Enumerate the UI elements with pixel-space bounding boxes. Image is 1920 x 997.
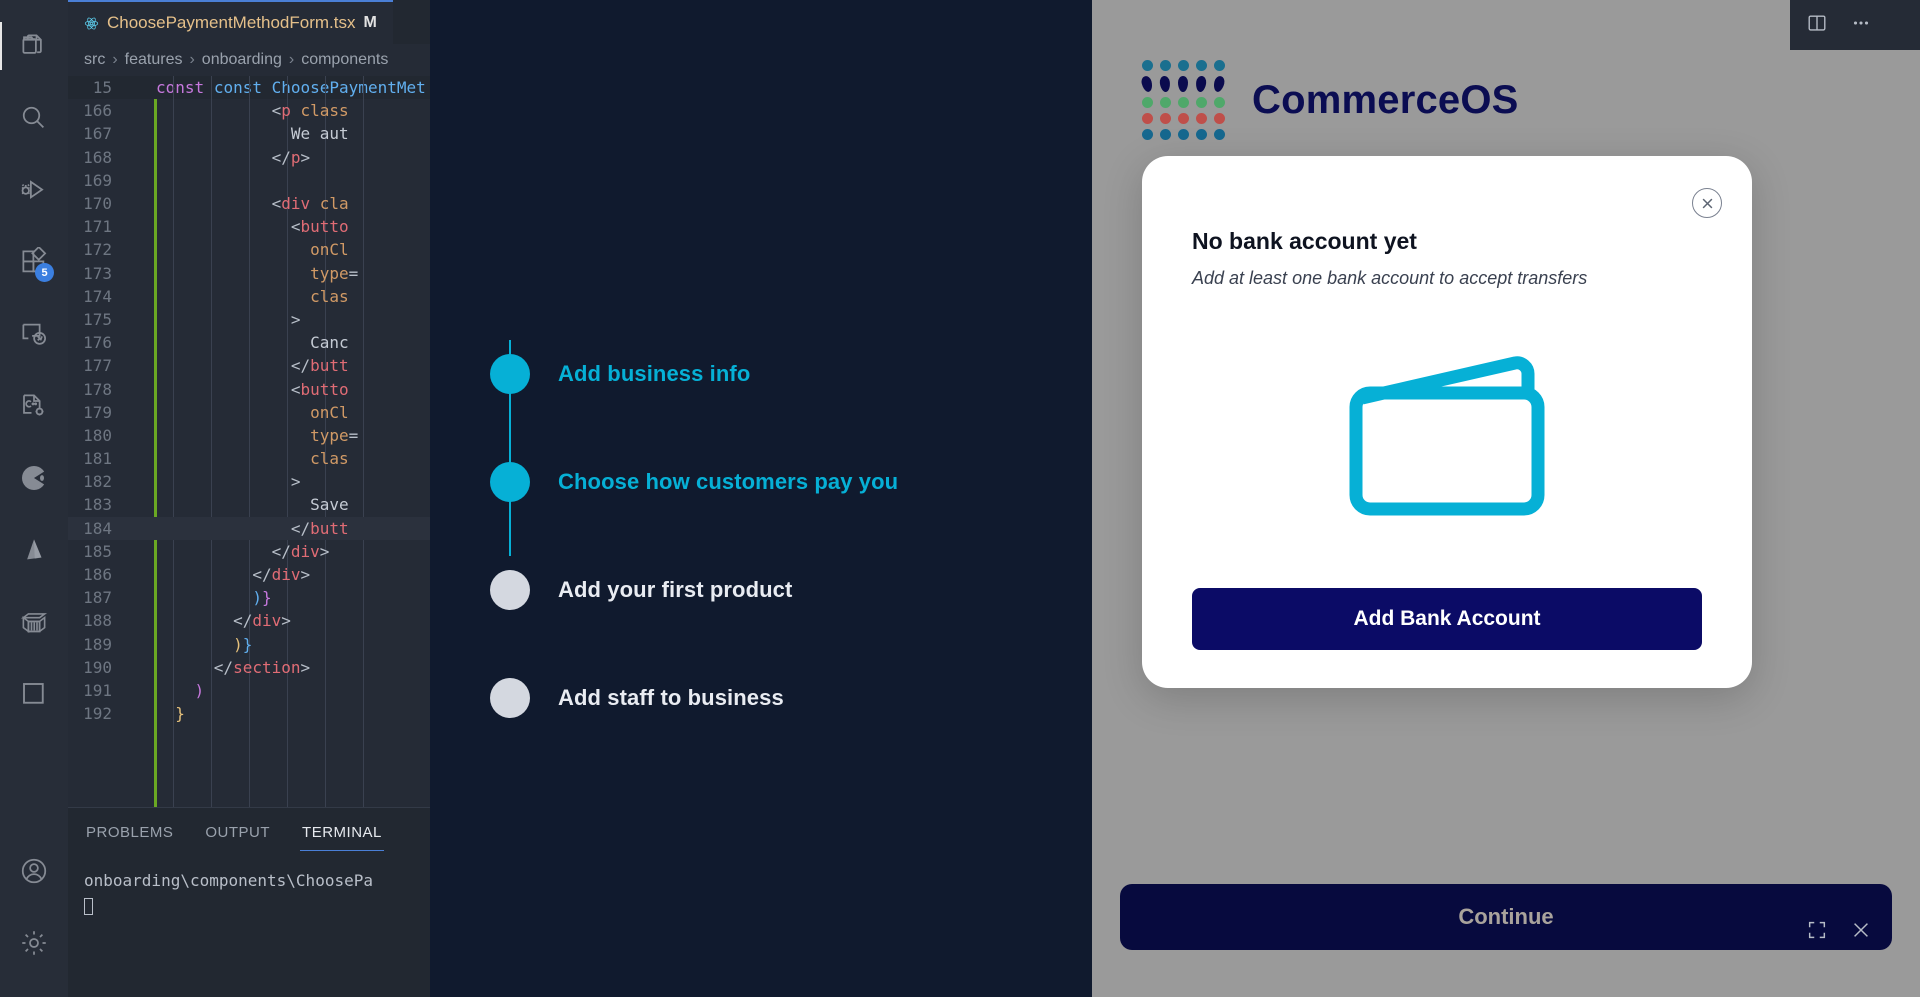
line-number: 184: [68, 519, 134, 538]
add-bank-account-button[interactable]: Add Bank Account: [1192, 588, 1702, 650]
logo-dot: [1214, 113, 1225, 124]
sticky-line-text: const ChoosePaymentMet: [214, 78, 426, 97]
sidebar-item-accounts[interactable]: [0, 835, 68, 907]
sidebar-item-explorer[interactable]: [0, 10, 68, 82]
breadcrumb-item-components[interactable]: components: [301, 51, 388, 69]
logo-drop: [1178, 76, 1188, 92]
files-icon: [19, 31, 49, 61]
line-number: 192: [68, 704, 134, 723]
logo-dot: [1160, 60, 1171, 71]
code-line-text: )}: [134, 588, 272, 607]
code-line-text: }: [134, 704, 185, 723]
code-line-text: We aut: [134, 124, 349, 143]
line-number: 172: [68, 240, 134, 259]
code-line-text: </butt: [134, 356, 349, 375]
code-line-text: <div cla: [134, 194, 349, 213]
line-number: 190: [68, 658, 134, 677]
account-icon: [19, 856, 49, 886]
line-number: 170: [68, 194, 134, 213]
logo-dot: [1214, 97, 1225, 108]
stepper-step-4[interactable]: Add staff to business: [490, 644, 898, 752]
react-icon: [84, 16, 99, 31]
code-line-text: >: [134, 310, 301, 329]
logo-drop: [1140, 75, 1154, 93]
line-number: 171: [68, 217, 134, 236]
split-editor-icon[interactable]: [1806, 12, 1828, 39]
wallet-illustration: [1142, 341, 1752, 524]
logo-dot: [1178, 97, 1189, 108]
prism-icon: [19, 535, 49, 565]
step-dot-pending: [490, 678, 530, 718]
pie-wedge-icon: [18, 462, 50, 494]
gear-icon: [19, 928, 49, 958]
step-label: Add business info: [558, 361, 750, 387]
activity-bar-top-group: 5: [0, 0, 68, 730]
extensions-badge: 5: [35, 263, 54, 282]
logo-dot: [1178, 113, 1189, 124]
editor-tab-filename: ChoosePaymentMethodForm.tsx: [107, 13, 356, 33]
step-label: Add your first product: [558, 577, 792, 603]
logo-dot: [1160, 129, 1171, 140]
sidebar-item-search[interactable]: [0, 82, 68, 154]
step-dot-pending: [490, 570, 530, 610]
line-number: 178: [68, 380, 134, 399]
code-line-text: </section>: [134, 658, 310, 677]
modal-title: No bank account yet: [1192, 228, 1417, 255]
code-line-text: clas: [134, 449, 349, 468]
step-label: Add staff to business: [558, 685, 784, 711]
sidebar-item-remote-explorer[interactable]: [0, 298, 68, 370]
sidebar-item-extensions[interactable]: 5: [0, 226, 68, 298]
ellipsis-icon[interactable]: [1850, 12, 1872, 39]
line-number: 177: [68, 356, 134, 375]
line-number: 181: [68, 449, 134, 468]
logo-drop: [1195, 75, 1207, 92]
code-line-text: </p>: [134, 148, 310, 167]
code-line-text: type=: [134, 264, 358, 283]
code-line-text: ): [134, 681, 204, 700]
sidebar-item-pie-wedge[interactable]: [0, 442, 68, 514]
run-debug-icon: [19, 175, 49, 205]
logo-dot: [1142, 129, 1153, 140]
screen-root: 5: [0, 0, 1920, 997]
line-number: 15: [68, 78, 134, 97]
commerceos-logo-icon: [1142, 60, 1228, 140]
stepper-step-1[interactable]: Add business info: [490, 320, 898, 428]
stepper-step-3[interactable]: Add your first product: [490, 536, 898, 644]
line-number: 179: [68, 403, 134, 422]
breadcrumb-item-onboarding[interactable]: onboarding: [202, 51, 282, 69]
wallet-icon: [1347, 341, 1547, 524]
logo-dot: [1142, 97, 1153, 108]
logo-dot: [1214, 129, 1225, 140]
panel-tab-output[interactable]: OUTPUT: [203, 812, 272, 851]
logo-dot: [1196, 113, 1207, 124]
continue-button[interactable]: Continue: [1120, 884, 1892, 950]
panel-tab-terminal[interactable]: TERMINAL: [300, 812, 384, 851]
code-line-text: onCl: [134, 403, 349, 422]
line-number: 191: [68, 681, 134, 700]
code-line-text: </div>: [134, 565, 310, 584]
logo-dot: [1214, 60, 1225, 71]
terminal-line: onboarding\components\ChoosePa: [84, 871, 373, 890]
code-line-text: </butt: [134, 519, 349, 538]
code-line-text: Save: [134, 495, 349, 514]
logo-dot: [1178, 60, 1189, 71]
logo-dot: [1196, 97, 1207, 108]
code-line-text: onCl: [134, 240, 349, 259]
app-overlay: Add business info Choose how customers p…: [430, 0, 1920, 997]
logo-dot: [1160, 97, 1171, 108]
sidebar-item-square-panel[interactable]: [0, 658, 68, 730]
code-line-text: <butto: [134, 380, 349, 399]
breadcrumb-separator: ›: [112, 51, 117, 69]
editor-tab-active[interactable]: ChoosePaymentMethodForm.tsx M: [68, 0, 393, 44]
onboarding-progress-panel: Add business info Choose how customers p…: [430, 0, 1092, 997]
brand-header: CommerceOS: [1142, 60, 1519, 140]
line-number: 186: [68, 565, 134, 584]
no-bank-account-modal: No bank account yet Add at least one ban…: [1142, 156, 1752, 688]
logo-dot: [1142, 60, 1153, 71]
modal-backdrop: CommerceOS No bank account yet Add at le…: [1092, 0, 1920, 997]
line-number: 173: [68, 264, 134, 283]
line-number: 169: [68, 171, 134, 190]
logo-dot: [1160, 113, 1171, 124]
onboarding-stepper: Add business info Choose how customers p…: [490, 320, 898, 752]
sidebar-item-manage[interactable]: [0, 907, 68, 979]
line-number: 189: [68, 635, 134, 654]
line-number: 183: [68, 495, 134, 514]
line-number: 187: [68, 588, 134, 607]
code-line-text: )}: [134, 635, 252, 654]
breadcrumb-item-src[interactable]: src: [84, 51, 105, 69]
terminal-cursor: [84, 898, 93, 915]
remote-explorer-icon: [19, 319, 49, 349]
line-number: 167: [68, 124, 134, 143]
code-line-text: <butto: [134, 217, 349, 236]
sidebar-item-cpp-config[interactable]: [0, 370, 68, 442]
line-number: 188: [68, 611, 134, 630]
logo-drop: [1212, 75, 1226, 93]
breadcrumb-item-features[interactable]: features: [125, 51, 183, 69]
line-number: 185: [68, 542, 134, 561]
sidebar-item-prisma[interactable]: [0, 514, 68, 586]
square-icon: [19, 679, 49, 709]
step-dot-complete: [490, 354, 530, 394]
container-icon: [19, 607, 49, 637]
activity-bar: 5: [0, 0, 68, 997]
line-number: 168: [68, 148, 134, 167]
code-line-text: type=: [134, 426, 358, 445]
editor-tab-dirty-marker: M: [364, 14, 377, 32]
modal-subtitle: Add at least one bank account to accept …: [1192, 268, 1587, 289]
line-number: 174: [68, 287, 134, 306]
logo-dot: [1142, 113, 1153, 124]
panel-right-actions: [1790, 907, 1920, 957]
step-dot-active: [490, 462, 530, 502]
search-icon: [19, 103, 49, 133]
maximize-icon[interactable]: [1806, 919, 1828, 946]
breadcrumb-separator: ›: [289, 51, 294, 69]
sidebar-item-containers[interactable]: [0, 586, 68, 658]
sidebar-item-run-and-debug[interactable]: [0, 154, 68, 226]
brand-name: CommerceOS: [1252, 78, 1519, 123]
breadcrumb-separator: ›: [189, 51, 194, 69]
stepper-step-2[interactable]: Choose how customers pay you: [490, 428, 898, 536]
activity-bar-bottom-group: [0, 835, 68, 997]
code-line-text: </div>: [134, 611, 291, 630]
cpp-config-icon: [19, 391, 49, 421]
line-number: 175: [68, 310, 134, 329]
editor-top-right-actions: [1790, 0, 1920, 50]
logo-dot: [1196, 60, 1207, 71]
code-line-text: Canc: [134, 333, 349, 352]
logo-drop: [1159, 75, 1171, 92]
logo-dot: [1178, 129, 1189, 140]
line-number: 180: [68, 426, 134, 445]
code-line-text: </div>: [134, 542, 329, 561]
close-circle-icon[interactable]: [1692, 188, 1722, 218]
code-line-text: <p class: [134, 101, 349, 120]
line-number: 166: [68, 101, 134, 120]
code-line-text: >: [134, 472, 301, 491]
code-line-text: clas: [134, 287, 349, 306]
step-label: Choose how customers pay you: [558, 469, 898, 495]
logo-dot: [1196, 129, 1207, 140]
line-number: 182: [68, 472, 134, 491]
line-number: 176: [68, 333, 134, 352]
close-icon[interactable]: [1850, 919, 1872, 946]
panel-tab-problems[interactable]: PROBLEMS: [84, 812, 175, 851]
